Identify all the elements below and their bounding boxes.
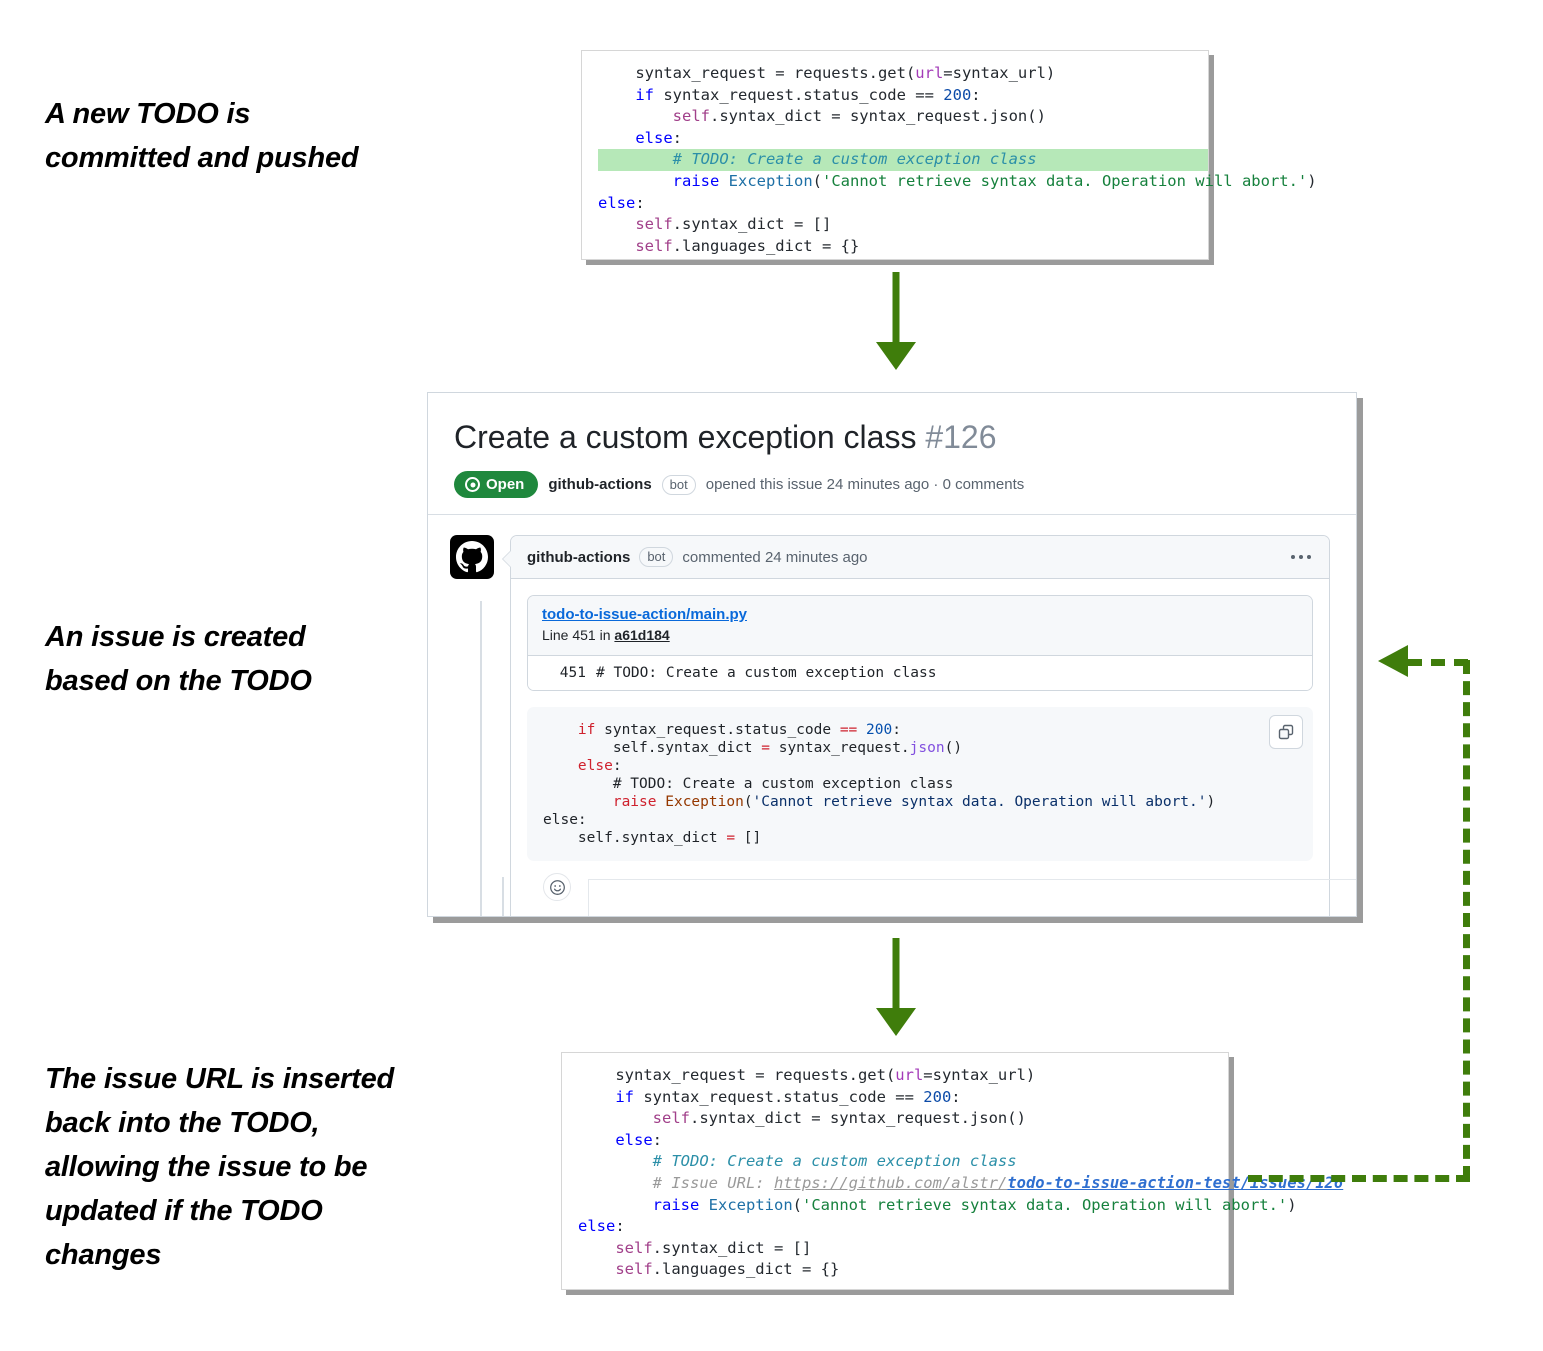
code-line: self.languages_dict = {} — [578, 1259, 1228, 1281]
issue-meta-text: opened this issue 24 minutes ago · 0 com… — [706, 476, 1025, 493]
issue-header: Create a custom exception class #126 Ope… — [428, 393, 1356, 515]
code-line: if syntax_request.status_code == 200: — [578, 1087, 1228, 1109]
kebab-dot — [1291, 555, 1295, 559]
snippet-code-line: 451 # TODO: Create a custom exception cl… — [528, 656, 1312, 690]
comment-meta-text: commented 24 minutes ago — [682, 549, 867, 566]
comment-body: todo-to-issue-action/main.py Line 451 in… — [511, 579, 1329, 917]
caption-url-inserted: The issue URL is inserted back into the … — [45, 1057, 415, 1277]
issue-author-link[interactable]: github-actions — [548, 476, 651, 493]
code-card-before: syntax_request = requests.get(url=syntax… — [581, 50, 1209, 260]
code-line: self.languages_dict = {} — [598, 236, 1208, 258]
code-line: # TODO: Create a custom exception class — [578, 1151, 1228, 1173]
timeline-rail-lower — [502, 877, 504, 916]
timeline-rail — [480, 601, 482, 917]
comment-author-link[interactable]: github-actions — [527, 549, 630, 566]
comment-box: github-actions bot commented 24 minutes … — [510, 535, 1330, 917]
feedback-dash-bottom — [1248, 1175, 1470, 1182]
arrow-shaft — [893, 272, 900, 344]
kebab-dot — [1307, 555, 1311, 559]
comment-header: github-actions bot commented 24 minutes … — [511, 536, 1329, 579]
issue-meta: Open github-actions bot opened this issu… — [454, 471, 1330, 498]
fenced-code-block: if syntax_request.status_code == 200: se… — [527, 707, 1313, 861]
issue-title-text: Create a custom exception class — [454, 419, 916, 455]
snippet-line-text: # TODO: Create a custom exception class — [596, 660, 936, 686]
github-issue-card: Create a custom exception class #126 Ope… — [427, 392, 1357, 917]
code-line: syntax_request = requests.get(url=syntax… — [598, 63, 1208, 85]
arrow-head — [876, 1008, 916, 1036]
snippet-ref-subtitle: Line 451 in a61d184 — [542, 626, 1298, 645]
next-timeline-item-placeholder — [588, 879, 1356, 916]
arrow-shaft — [893, 938, 900, 1010]
caption-issue-created: An issue is created based on the TODO — [45, 615, 390, 703]
add-reaction-icon[interactable] — [543, 873, 571, 901]
code-line: else: — [598, 193, 1208, 215]
code-line: raise Exception('Cannot retrieve syntax … — [578, 1195, 1228, 1217]
code-snippet-reference: todo-to-issue-action/main.py Line 451 in… — [527, 595, 1313, 691]
snippet-line-number: 451 — [528, 660, 596, 686]
arrow-down-to-issue — [875, 272, 917, 370]
status-badge-label: Open — [486, 477, 524, 492]
arrow-head — [876, 342, 916, 370]
feedback-dash-top — [1408, 659, 1468, 666]
caption-todo-committed: A new TODO is committed and pushed — [45, 92, 375, 180]
page-title: Create a custom exception class #126 — [454, 417, 1330, 457]
copy-glyph — [1278, 724, 1294, 740]
code-line-todo-highlighted: # TODO: Create a custom exception class — [598, 149, 1208, 171]
snippet-ref-header: todo-to-issue-action/main.py Line 451 in… — [528, 596, 1312, 656]
issue-number: #126 — [925, 419, 996, 455]
feedback-dash-right — [1463, 660, 1470, 1180]
code-line: self.syntax_dict = syntax_request.json() — [598, 106, 1208, 128]
code-line: self.syntax_dict = [] — [578, 1238, 1228, 1260]
status-badge[interactable]: Open — [454, 471, 538, 498]
kebab-dot — [1299, 555, 1303, 559]
code-line: else: — [598, 128, 1208, 150]
copy-icon[interactable] — [1269, 715, 1303, 749]
code-line: if syntax_request.status_code == 200: — [598, 85, 1208, 107]
snippet-file-link[interactable]: todo-to-issue-action/main.py — [542, 605, 1298, 625]
smiley-glyph — [549, 879, 566, 896]
code-line: self.syntax_dict = syntax_request.json() — [578, 1108, 1228, 1130]
feedback-arrow-head — [1378, 645, 1408, 677]
code-line: else: — [578, 1216, 1228, 1238]
avatar[interactable] — [450, 535, 494, 579]
comment-bot-badge: bot — [639, 547, 673, 567]
snippet-line-prefix: Line 451 in — [542, 627, 614, 643]
comment-code: if syntax_request.status_code == 200: se… — [543, 721, 1297, 847]
comment-row: github-actions bot commented 24 minutes … — [428, 515, 1356, 917]
arrow-down-to-updated-code — [875, 938, 917, 1036]
issue-url-gray: https://github.com/alstr/ — [774, 1174, 1007, 1192]
code-block-before: syntax_request = requests.get(url=syntax… — [598, 63, 1208, 257]
code-line: else: — [578, 1130, 1228, 1152]
octocat-icon — [456, 541, 488, 573]
snippet-commit-sha[interactable]: a61d184 — [614, 627, 669, 643]
code-line: raise Exception('Cannot retrieve syntax … — [598, 171, 1208, 193]
issue-open-icon — [465, 477, 480, 492]
code-line-issue-url: # Issue URL: https://github.com/alstr/to… — [578, 1173, 1228, 1195]
code-line: self.syntax_dict = [] — [598, 214, 1208, 236]
bot-badge: bot — [662, 475, 696, 495]
kebab-menu-icon[interactable] — [1289, 551, 1313, 563]
code-card-after: syntax_request = requests.get(url=syntax… — [561, 1052, 1229, 1290]
code-line: syntax_request = requests.get(url=syntax… — [578, 1065, 1228, 1087]
code-block-after: syntax_request = requests.get(url=syntax… — [578, 1065, 1228, 1281]
